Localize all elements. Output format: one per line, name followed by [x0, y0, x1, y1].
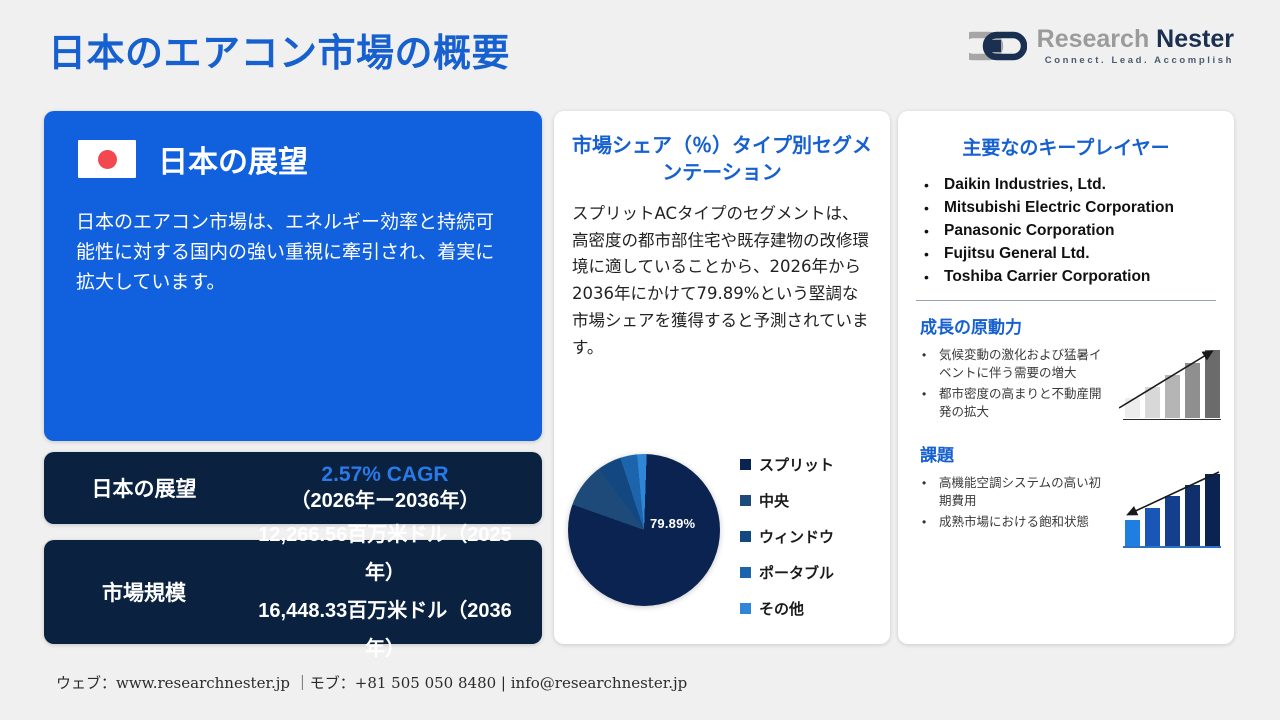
legend-label: スプリット	[759, 454, 834, 475]
segmentation-title: 市場シェア（％）タイプ別セグメンテーション	[554, 111, 890, 187]
legend-label: ポータブル	[759, 562, 834, 583]
market-size-label: 市場規模	[44, 577, 244, 607]
challenge-text: 高機能空調システムの高い初期費用	[939, 474, 1113, 510]
growth-driver-text: 都市密度の高まりと不動産開発の拡大	[939, 385, 1113, 421]
challenges-title: 課題	[920, 441, 1218, 466]
infographic-page: 日本のエアコン市場の概要 Research Nester Connect. Le…	[0, 0, 1280, 720]
growth-drivers-title: 成長の原動力	[920, 313, 1218, 338]
cagr-stat-box: 日本の展望 2.57% CAGR （2026年ー2036年）	[44, 452, 542, 524]
bullet-icon: •	[922, 346, 929, 365]
logo-word-nester: Nester	[1156, 25, 1234, 53]
japan-flag-icon	[78, 140, 136, 178]
bullet-icon: •	[924, 243, 932, 265]
legend-item: その他	[740, 590, 834, 626]
cagr-period: （2026年ー2036年）	[244, 488, 526, 514]
market-size-stat-box: 市場規模 12,266.56百万米ドル（2025年） 16,448.33百万米ド…	[44, 540, 542, 644]
logo-mark-icon	[969, 28, 1027, 64]
list-item: •気候変動の激化および猛暑イベントに伴う需要の増大	[922, 346, 1113, 382]
segmentation-body-text: スプリットACタイプのセグメントは、高密度の都市部住宅や既存建物の改修環境に適し…	[554, 187, 890, 361]
section-divider	[916, 300, 1216, 301]
challenge-text: 成熟市場における飽和状態	[939, 513, 1089, 531]
list-item: •Mitsubishi Electric Corporation	[924, 197, 1218, 219]
cagr-value: 2.57% CAGR	[244, 462, 526, 488]
bullet-icon: •	[924, 266, 932, 288]
legend-swatch-icon	[740, 495, 751, 506]
outlook-body-text: 日本のエアコン市場は、エネルギー効率と持続可能性に対する国内の強い重視に牽引され…	[76, 207, 512, 297]
legend-label: 中央	[759, 490, 789, 511]
outlook-title: 日本の展望	[158, 137, 308, 181]
outlook-header: 日本の展望	[44, 111, 542, 181]
page-header: 日本のエアコン市場の概要 Research Nester Connect. Le…	[0, 0, 1280, 96]
japan-outlook-panel: 日本の展望 日本のエアコン市場は、エネルギー効率と持続可能性に対する国内の強い重…	[44, 111, 542, 441]
descending-arrow-bar-chart-icon	[1119, 470, 1218, 552]
list-item: •Fujitsu General Ltd.	[924, 243, 1218, 265]
legend-item: ポータブル	[740, 554, 834, 590]
legend-item: スプリット	[740, 446, 834, 482]
list-item: •高機能空調システムの高い初期費用	[922, 474, 1113, 510]
legend-swatch-icon	[740, 603, 751, 614]
key-players-list: •Daikin Industries, Ltd.•Mitsubishi Elec…	[924, 174, 1218, 288]
logo-tagline: Connect. Lead. Accomplish	[1045, 55, 1234, 66]
legend-swatch-icon	[740, 459, 751, 470]
market-size-2036: 16,448.33百万米ドル（2036年）	[244, 592, 526, 668]
bullet-icon: •	[924, 220, 932, 242]
legend-label: ウィンドウ	[759, 526, 834, 547]
bullet-icon: •	[922, 385, 929, 404]
key-player-name: Mitsubishi Electric Corporation	[944, 197, 1174, 219]
growth-driver-text: 気候変動の激化および猛暑イベントに伴う需要の増大	[939, 346, 1113, 382]
page-title: 日本のエアコン市場の概要	[48, 22, 510, 77]
ascending-bar-chart-icon	[1119, 342, 1218, 424]
footer-contact: ウェブ：www.researchnester.jp ｜モブ：+81 505 05…	[56, 672, 687, 693]
cagr-label: 日本の展望	[44, 473, 244, 503]
segmentation-card: 市場シェア（％）タイプ別セグメンテーション スプリットACタイプのセグメントは、…	[554, 111, 890, 644]
pie-chart	[568, 454, 720, 606]
players-and-insights-card: 主要なのキープレイヤー •Daikin Industries, Ltd.•Mit…	[898, 111, 1234, 644]
key-player-name: Daikin Industries, Ltd.	[944, 174, 1106, 196]
cagr-values: 2.57% CAGR （2026年ー2036年）	[244, 462, 542, 514]
bullet-icon: •	[922, 474, 929, 493]
challenges-section: 課題 •高機能空調システムの高い初期費用•成熟市場における飽和状態	[914, 441, 1218, 552]
key-player-name: Fujitsu General Ltd.	[944, 243, 1090, 265]
pie-data-label: 79.89%	[650, 516, 695, 531]
bullet-icon: •	[922, 513, 929, 532]
legend-label: その他	[759, 598, 804, 619]
pie-chart-legend: スプリット中央ウィンドウポータブルその他	[740, 446, 834, 626]
growth-drivers-list: •気候変動の激化および猛暑イベントに伴う需要の増大•都市密度の高まりと不動産開発…	[922, 346, 1113, 425]
company-logo: Research Nester Connect. Lead. Accomplis…	[969, 26, 1234, 66]
growth-drivers-section: 成長の原動力 •気候変動の激化および猛暑イベントに伴う需要の増大•都市密度の高ま…	[914, 313, 1218, 425]
list-item: •都市密度の高まりと不動産開発の拡大	[922, 385, 1113, 421]
list-item: •Daikin Industries, Ltd.	[924, 174, 1218, 196]
legend-item: 中央	[740, 482, 834, 518]
list-item: •Toshiba Carrier Corporation	[924, 266, 1218, 288]
pie-chart-area: 79.89% スプリット中央ウィンドウポータブルその他	[554, 440, 890, 630]
challenges-list: •高機能空調システムの高い初期費用•成熟市場における飽和状態	[922, 474, 1113, 535]
logo-text: Research Nester Connect. Lead. Accomplis…	[1037, 26, 1234, 66]
logo-word-research: Research	[1037, 25, 1150, 53]
bullet-icon: •	[924, 174, 932, 196]
market-size-values: 12,266.56百万米ドル（2025年） 16,448.33百万米ドル（203…	[244, 516, 542, 668]
list-item: •成熟市場における飽和状態	[922, 513, 1113, 532]
key-players-title: 主要なのキープレイヤー	[914, 111, 1218, 160]
key-player-name: Panasonic Corporation	[944, 220, 1115, 242]
list-item: •Panasonic Corporation	[924, 220, 1218, 242]
legend-item: ウィンドウ	[740, 518, 834, 554]
market-size-2025: 12,266.56百万米ドル（2025年）	[244, 516, 526, 592]
legend-swatch-icon	[740, 531, 751, 542]
legend-swatch-icon	[740, 567, 751, 578]
bullet-icon: •	[924, 197, 932, 219]
key-player-name: Toshiba Carrier Corporation	[944, 266, 1150, 288]
